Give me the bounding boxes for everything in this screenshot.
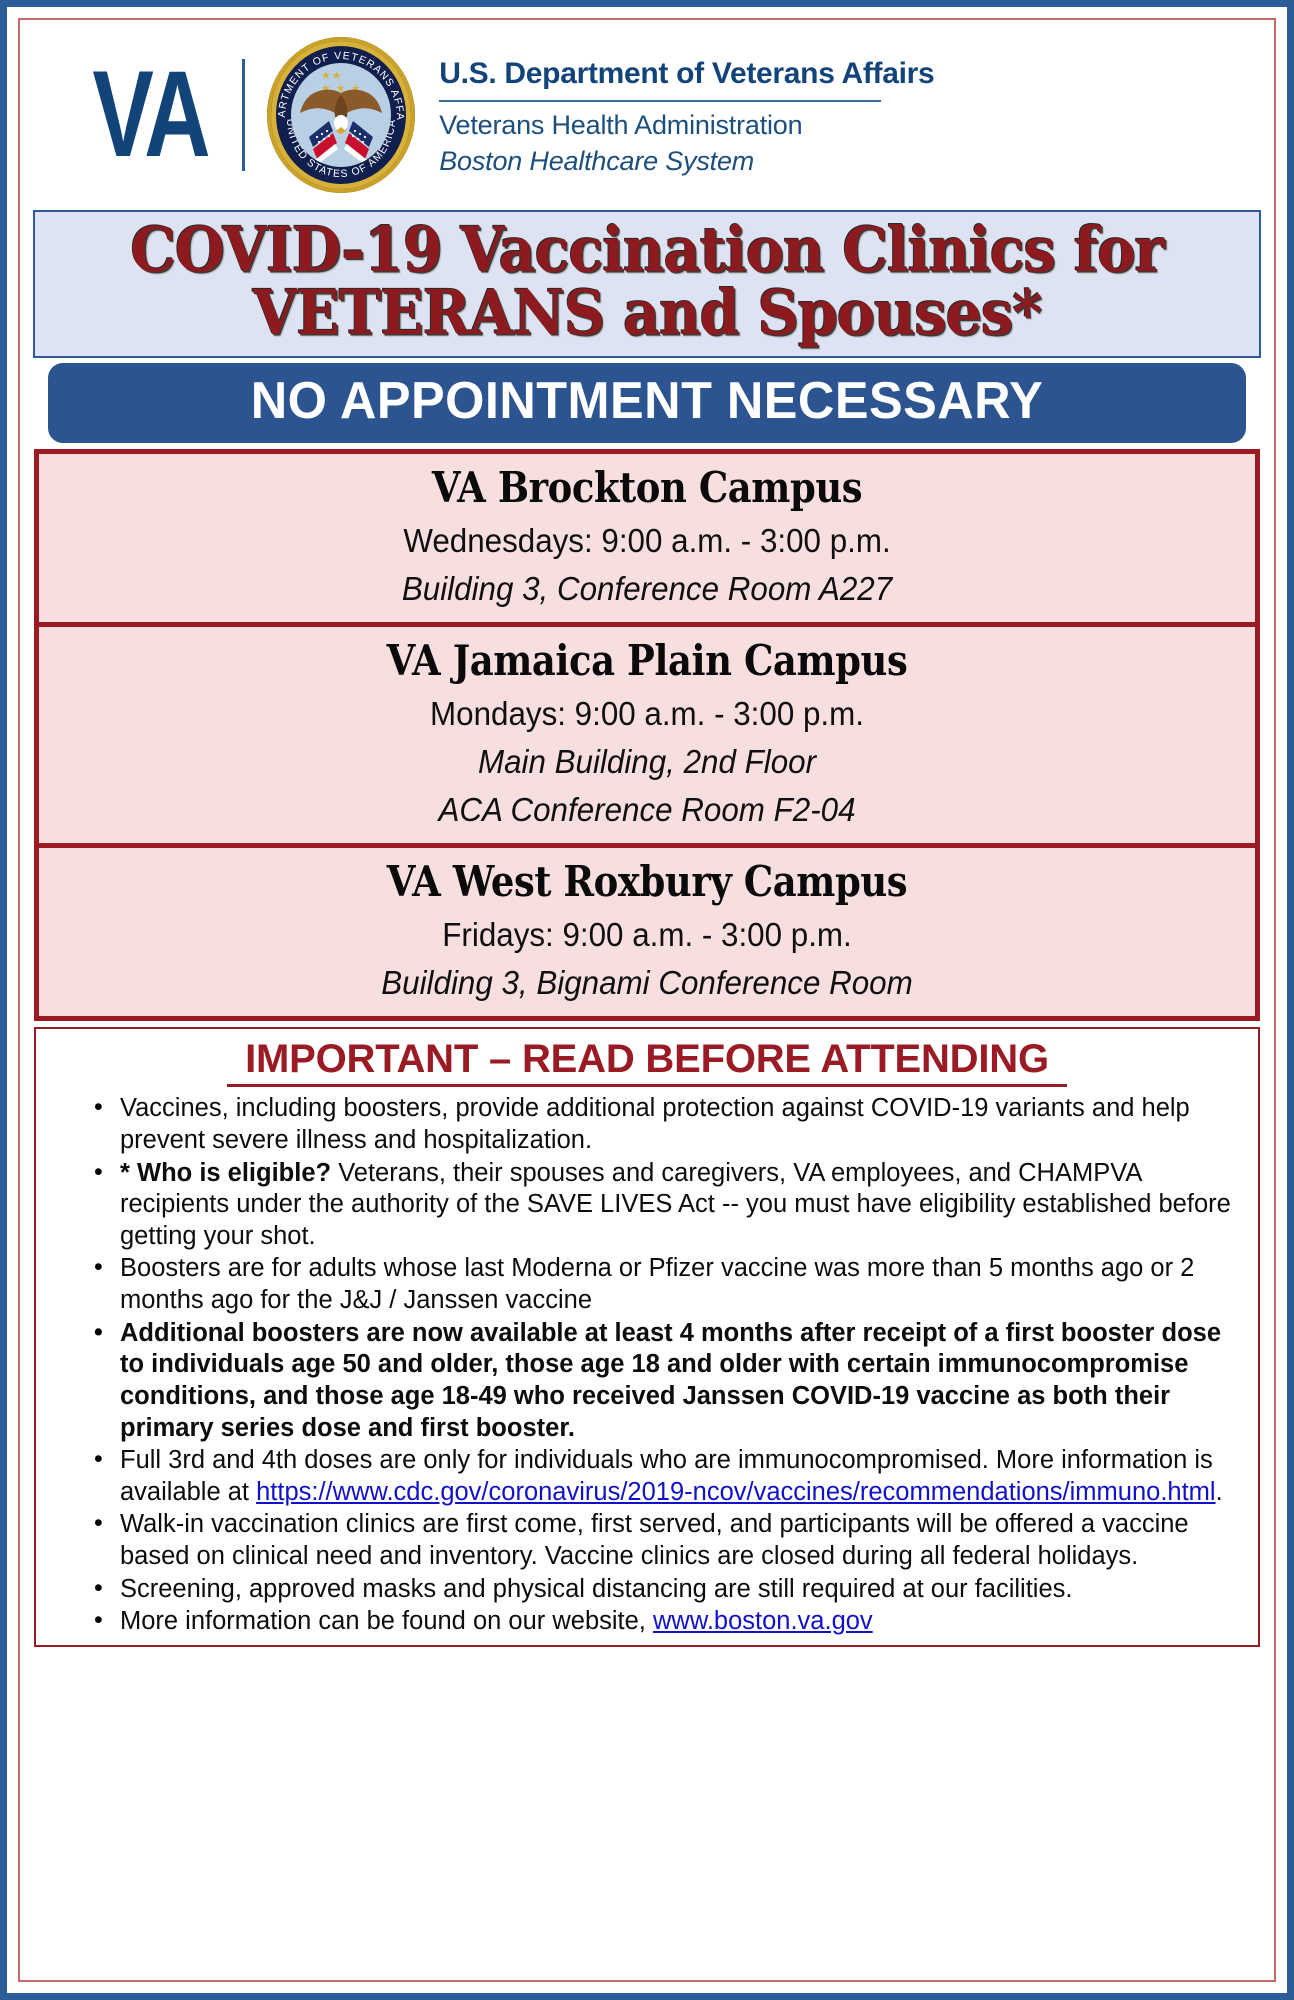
campus-location: Main Building, 2nd Floor: [69, 741, 1224, 784]
campus-hours: Mondays: 9:00 a.m. - 3:00 p.m.: [69, 693, 1224, 736]
note-item: Walk-in vaccination clinics are first co…: [94, 1509, 1242, 1572]
campus-hours: Fridays: 9:00 a.m. - 3:00 p.m.: [69, 914, 1224, 957]
note-item: Boosters are for adults whose last Moder…: [94, 1253, 1242, 1316]
campus-location: Building 3, Bignami Conference Room: [69, 962, 1224, 1005]
seal-flags-icon: [299, 117, 383, 165]
masthead-divider: [242, 59, 245, 171]
agency-title: U.S. Department of Veterans Affairs: [439, 57, 934, 91]
campus-name: VA Jamaica Plain Campus: [112, 635, 1182, 686]
campus-name: VA West Roxbury Campus: [112, 856, 1182, 907]
poster-outer-frame: VA DEPARTMENT OF VETERANS AFFAIRS: [0, 0, 1294, 2000]
campus-hours: Wednesdays: 9:00 a.m. - 3:00 p.m.: [69, 520, 1224, 563]
note-text-after: .: [1216, 1478, 1223, 1506]
note-item: More information can be found on our web…: [94, 1606, 1242, 1638]
no-appointment-banner: NO APPOINTMENT NECESSARY: [48, 363, 1246, 443]
masthead-text-block: U.S. Department of Veterans Affairs Vete…: [439, 53, 934, 177]
note-text: Walk-in vaccination clinics are first co…: [120, 1510, 1189, 1570]
poster-inner-frame: VA DEPARTMENT OF VETERANS AFFAIRS: [18, 18, 1276, 1982]
masthead-rule: [439, 100, 881, 102]
important-notes-rule: [227, 1084, 1067, 1087]
page-title-line-2: VETERANS and Spouses*: [84, 281, 1210, 344]
note-text: More information can be found on our web…: [120, 1607, 653, 1635]
note-item: Full 3rd and 4th doses are only for indi…: [94, 1445, 1242, 1508]
note-text: Screening, approved masks and physical d…: [120, 1575, 1073, 1603]
no-appointment-banner-text: NO APPOINTMENT NECESSARY: [66, 371, 1228, 431]
note-item: Vaccines, including boosters, provide ad…: [94, 1093, 1242, 1156]
note-item: Screening, approved masks and physical d…: [94, 1574, 1242, 1606]
va-seal-icon: DEPARTMENT OF VETERANS AFFAIRS UNITED ST…: [267, 37, 415, 193]
campus-entry-west-roxbury: VA West Roxbury Campus Fridays: 9:00 a.m…: [39, 848, 1255, 1016]
important-notes-box: IMPORTANT – READ BEFORE ATTENDING Vaccin…: [34, 1027, 1260, 1646]
campus-location: Building 3, Conference Room A227: [69, 568, 1224, 611]
poster-content: VA DEPARTMENT OF VETERANS AFFAIRS: [20, 20, 1274, 1980]
campus-entry-brockton: VA Brockton Campus Wednesdays: 9:00 a.m.…: [39, 454, 1255, 627]
note-text: Boosters are for adults whose last Moder…: [120, 1254, 1194, 1314]
poster-title-box: COVID-19 Vaccination Clinics for VETERAN…: [33, 210, 1261, 358]
note-text: Additional boosters are now available at…: [120, 1319, 1221, 1442]
note-item: Additional boosters are now available at…: [94, 1318, 1242, 1444]
masthead: VA DEPARTMENT OF VETERANS AFFAIRS: [30, 24, 1264, 206]
agency-subtitle-vha: Veterans Health Administration: [439, 110, 934, 141]
seal-center-disc: ★★★ ★ ★: [291, 63, 391, 167]
agency-subtitle-boston: Boston Healthcare System: [439, 146, 934, 177]
campus-entry-jamaica-plain: VA Jamaica Plain Campus Mondays: 9:00 a.…: [39, 627, 1255, 848]
page-title-line-1: COVID-19 Vaccination Clinics for: [84, 218, 1210, 281]
important-notes-heading: IMPORTANT – READ BEFORE ATTENDING: [46, 1037, 1248, 1082]
note-item: * Who is eligible? Veterans, their spous…: [94, 1158, 1242, 1253]
campus-name: VA Brockton Campus: [112, 462, 1182, 513]
campus-list: VA Brockton Campus Wednesdays: 9:00 a.m.…: [34, 449, 1260, 1021]
note-text: Vaccines, including boosters, provide ad…: [120, 1094, 1190, 1154]
campus-location-secondary: ACA Conference Room F2-04: [69, 789, 1224, 832]
va-wordmark-logo: VA: [92, 54, 207, 177]
note-hyperlink[interactable]: https://www.cdc.gov/coronavirus/2019-nco…: [256, 1478, 1216, 1506]
note-bold-lead: * Who is eligible?: [120, 1159, 331, 1187]
important-notes-list: Vaccines, including boosters, provide ad…: [46, 1093, 1248, 1637]
note-hyperlink[interactable]: www.boston.va.gov: [653, 1607, 873, 1635]
